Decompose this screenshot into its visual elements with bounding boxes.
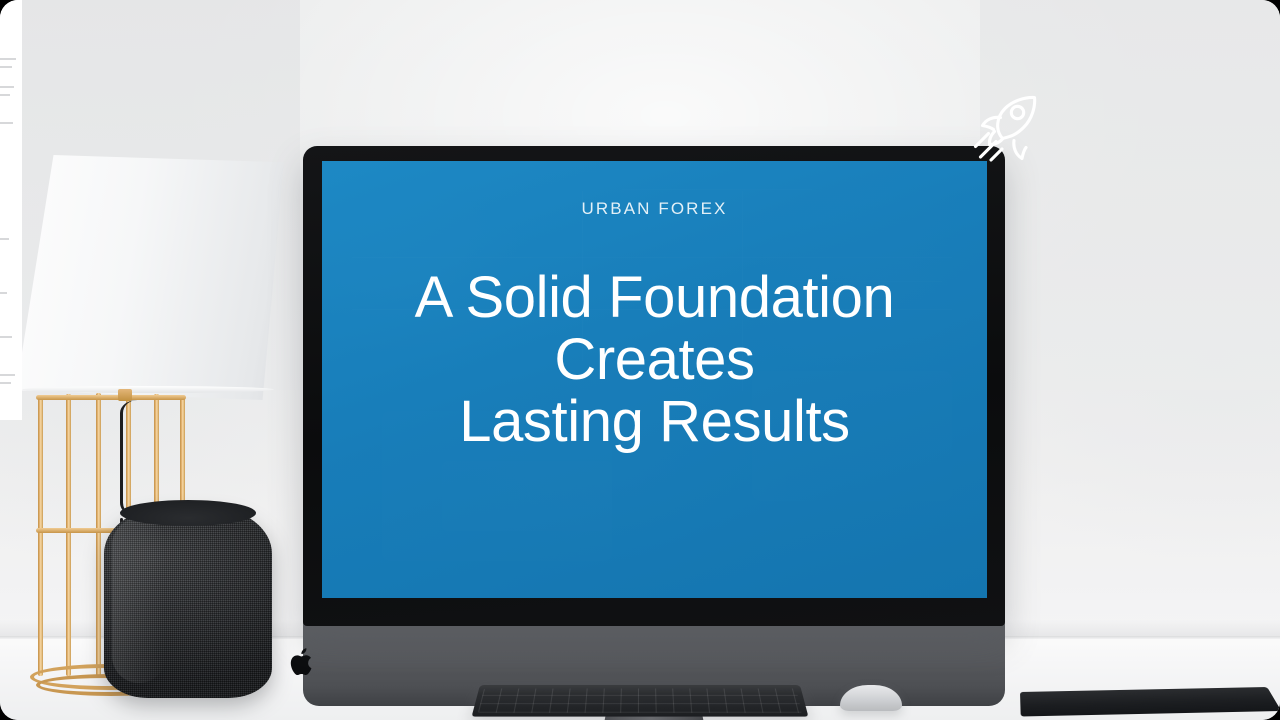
- scene-root: URBAN FOREX A Solid Foundation Creates L…: [0, 0, 1280, 720]
- headline-line-3: Lasting Results: [345, 391, 965, 453]
- rocket-icon: [962, 86, 1050, 174]
- lamp-left-shade-lip: [22, 386, 274, 393]
- slide-content: URBAN FOREX A Solid Foundation Creates L…: [322, 161, 987, 598]
- lamp-left-shade: [16, 155, 284, 400]
- headline-line-1: A Solid Foundation: [345, 267, 965, 329]
- left-edge-strip: [0, 0, 22, 420]
- imac-bezel: URBAN FOREX A Solid Foundation Creates L…: [303, 146, 1005, 626]
- slide-eyebrow: URBAN FOREX: [582, 199, 728, 219]
- slide-headline: A Solid Foundation Creates Lasting Resul…: [345, 267, 965, 453]
- headline-line-2: Creates: [345, 329, 965, 391]
- keyboard-keys: [478, 689, 802, 713]
- apple-logo-icon: [290, 646, 316, 678]
- lamp-left-cord: [120, 400, 146, 520]
- wall-panel-right: [980, 0, 1280, 390]
- keyboard[interactable]: [472, 685, 809, 717]
- homepod-highlight: [112, 518, 166, 683]
- homepod-top: [120, 500, 256, 526]
- homepod-speaker: [104, 508, 272, 698]
- imac-screen[interactable]: URBAN FOREX A Solid Foundation Creates L…: [322, 161, 987, 598]
